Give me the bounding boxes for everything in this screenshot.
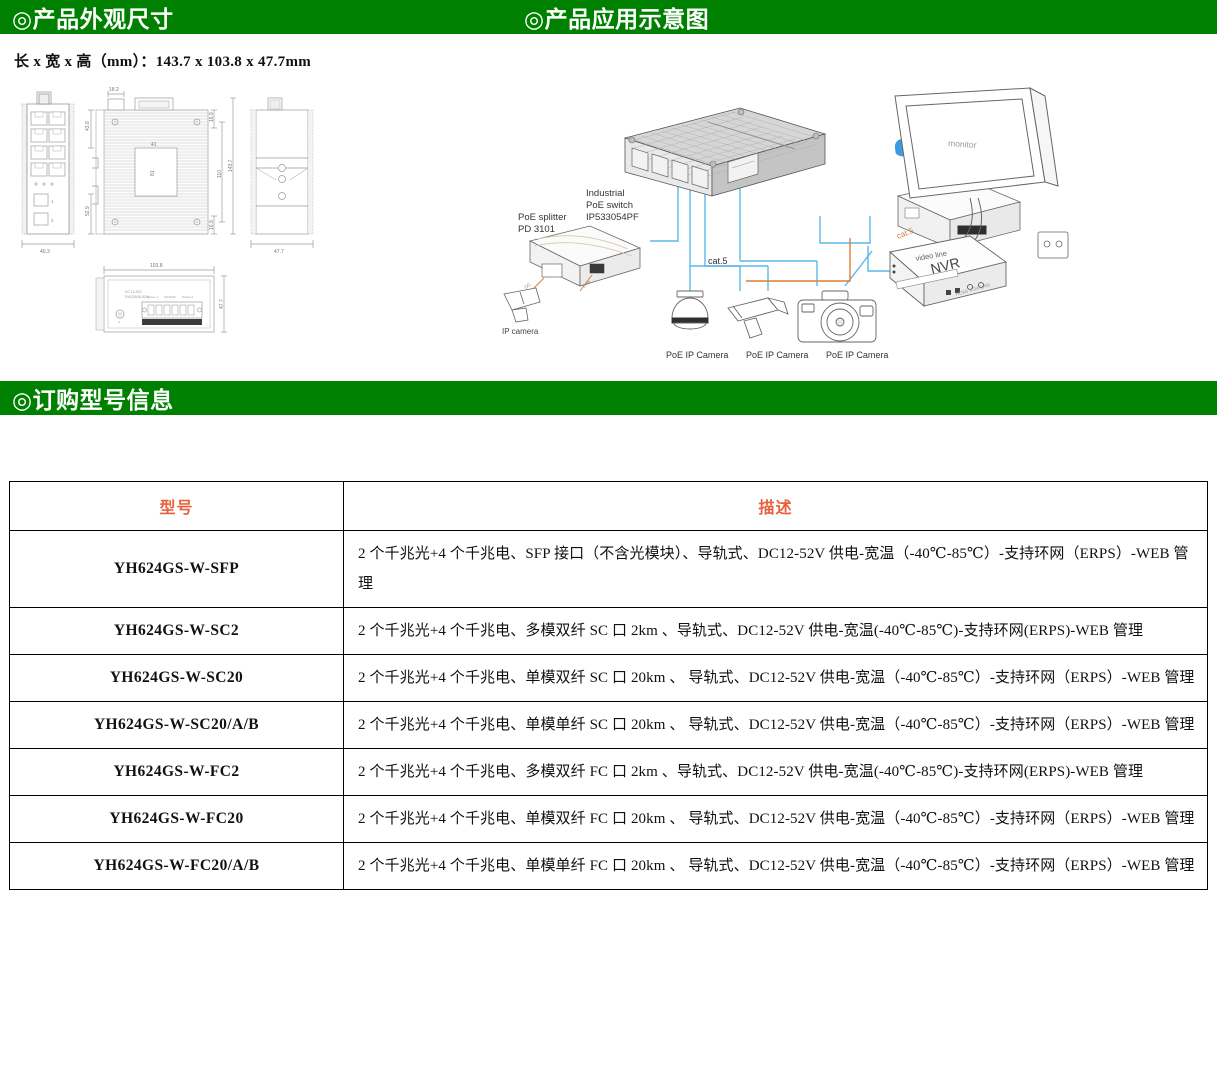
svg-text:Power 2: Power 2 [182, 295, 193, 299]
svg-text:DC: DC [523, 281, 532, 289]
svg-text:47.7: 47.7 [219, 299, 225, 309]
model-cell: YH624GS-W-FC20 [10, 796, 344, 843]
application-diagram: Industrial PoE switch IP533054PF DC LAN … [500, 86, 1200, 371]
table-row: YH624GS-W-FC2 2 个千兆光+4 个千兆电、多模双纤 FC 口 2k… [10, 749, 1208, 796]
description-cell: 2 个千兆光+4 个千兆电、多模双纤 SC 口 2km 、导轨式、DC12-52… [344, 608, 1208, 655]
model-cell: YH624GS-W-FC20/A/B [10, 843, 344, 890]
model-cell: YH624GS-W-SC20 [10, 655, 344, 702]
model-cell: YH624GS-W-SC2 [10, 608, 344, 655]
description-cell: 2 个千兆光+4 个千兆电、单模单纤 SC 口 20km 、 导轨式、DC12-… [344, 702, 1208, 749]
table-header-row: 型号 描述 [10, 482, 1208, 531]
table-header-description: 描述 [344, 482, 1208, 531]
description-cell: 2 个千兆光+4 个千兆电、多模双纤 FC 口 2km 、导轨式、DC12-52… [344, 749, 1208, 796]
splitter-label-2: PD 3101 [518, 224, 555, 235]
description-cell: 2 个千兆光+4 个千兆电、单模单纤 FC 口 20km 、 导轨式、DC12-… [344, 843, 1208, 890]
section-marker-icon: ◎ [12, 388, 33, 413]
camera-label-2: PoE IP Camera [746, 350, 808, 360]
description-cell: 2 个千兆光+4 个千兆电、单模双纤 SC 口 20km 、 导轨式、DC12-… [344, 655, 1208, 702]
svg-text:DC 12-52V: DC 12-52V [125, 290, 143, 294]
svg-text:47.7: 47.7 [274, 249, 284, 255]
svg-text:81: 81 [150, 170, 156, 176]
svg-text:FG/GND: FG/GND [164, 295, 176, 299]
splitter-label-1: PoE splitter [518, 212, 567, 223]
switch-label-3: IP533054PF [586, 212, 639, 223]
ip-camera-label: IP camera [502, 327, 539, 336]
table-row: YH624GS-W-FC20 2 个千兆光+4 个千兆电、单模双纤 FC 口 2… [10, 796, 1208, 843]
section-title-ordering-label: 订购型号信息 [33, 388, 174, 413]
svg-text:41: 41 [151, 142, 157, 148]
section-title-application: ◎产品应用示意图 [524, 0, 709, 34]
table-row: YH624GS-W-SC20 2 个千兆光+4 个千兆电、单模双纤 SC 口 2… [10, 655, 1208, 702]
svg-text:43.8: 43.8 [85, 121, 91, 131]
svg-text:16.9: 16.9 [209, 220, 215, 230]
table-row: YH624GS-W-SC2 2 个千兆光+4 个千兆电、多模双纤 SC 口 2k… [10, 608, 1208, 655]
dimension-note: 长 x 宽 x 高（mm）：143.7 x 103.8 x 47.7mm [14, 50, 311, 71]
description-cell: 2 个千兆光+4 个千兆电、SFP 接口（不含光模块）、导轨式、DC12-52V… [344, 531, 1208, 608]
ordering-info-table: 型号 描述 YH624GS-W-SFP 2 个千兆光+4 个千兆电、SFP 接口… [9, 481, 1208, 890]
section-title-ordering: ◎订购型号信息 [12, 381, 174, 415]
description-cell: 2 个千兆光+4 个千兆电、单模双纤 FC 口 20km 、 导轨式、DC12-… [344, 796, 1208, 843]
cat5-label-main: cat.5 [708, 256, 728, 266]
svg-text:Power 1: Power 1 [147, 295, 158, 299]
table-row: YH624GS-W-FC20/A/B 2 个千兆光+4 个千兆电、单模单纤 FC… [10, 843, 1208, 890]
svg-text:110: 110 [217, 170, 223, 178]
section-title-appearance: ◎产品外观尺寸 [12, 0, 174, 34]
switch-label-2: PoE switch [586, 200, 633, 211]
model-cell: YH624GS-W-FC2 [10, 749, 344, 796]
section-marker-icon: ◎ [524, 7, 545, 32]
mechanical-drawing: 1 2 40.3 [8, 86, 478, 356]
section-title-application-label: 产品应用示意图 [545, 7, 710, 32]
switch-label-1: Industrial [586, 188, 625, 199]
table-row: YH624GS-W-SFP 2 个千兆光+4 个千兆电、SFP 接口（不含光模块… [10, 531, 1208, 608]
section-bar-appearance: ◎产品外观尺寸 ◎产品应用示意图 [0, 0, 1217, 34]
section-marker-icon: ◎ [12, 7, 33, 32]
svg-text:18.2: 18.2 [109, 87, 119, 93]
svg-text:PoE(30/48-52V): PoE(30/48-52V) [125, 295, 149, 299]
svg-text:52.9: 52.9 [85, 206, 91, 216]
camera-label-1: PoE IP Camera [666, 350, 728, 360]
table-row: YH624GS-W-SC20/A/B 2 个千兆光+4 个千兆电、单模单纤 SC… [10, 702, 1208, 749]
svg-text:103.8: 103.8 [150, 263, 163, 269]
model-cell: YH624GS-W-SFP [10, 531, 344, 608]
svg-text:16.9: 16.9 [209, 112, 215, 122]
svg-text:143.7: 143.7 [228, 159, 234, 172]
table-header-model: 型号 [10, 482, 344, 531]
camera-label-3: PoE IP Camera [826, 350, 888, 360]
section-bar-ordering: ◎订购型号信息 [0, 381, 1217, 415]
monitor-label: monitor [948, 138, 977, 150]
model-cell: YH624GS-W-SC20/A/B [10, 702, 344, 749]
svg-text:40.3: 40.3 [40, 249, 50, 255]
section-title-appearance-label: 产品外观尺寸 [33, 7, 174, 32]
